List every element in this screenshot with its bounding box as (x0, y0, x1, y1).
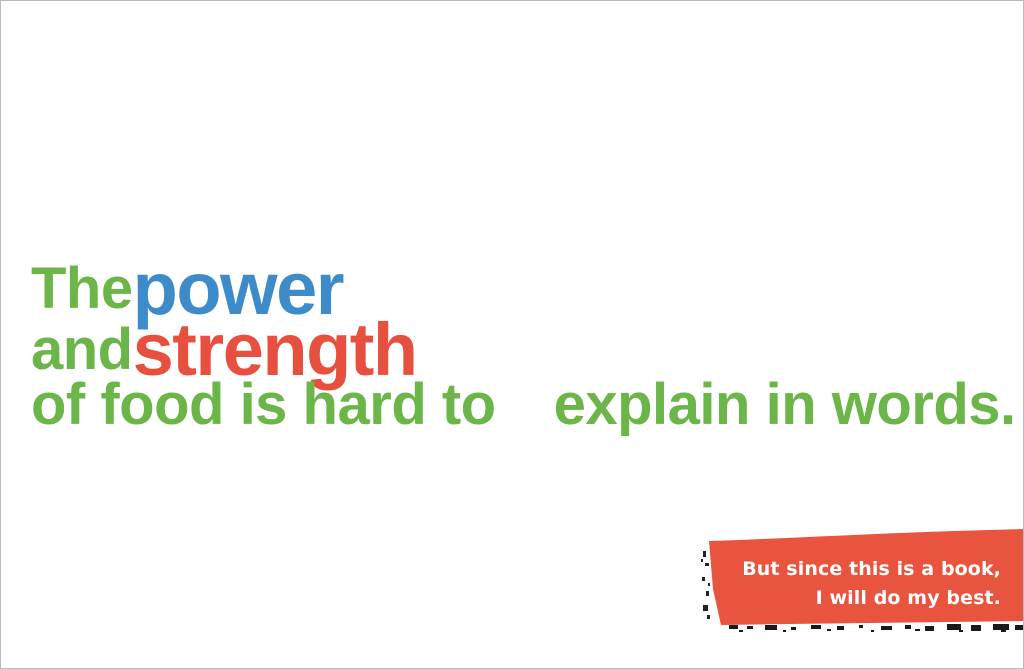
headline-phrase-explain-in-words: explain in words. (554, 372, 1016, 437)
poster-page: Thepower andstrength of food is hard toe… (0, 0, 1024, 669)
torn-edge-speckles-left (701, 551, 710, 619)
banner-callout: But since this is a book, I will do my b… (699, 529, 1024, 645)
headline-block: Thepower andstrength of food is hard toe… (31, 259, 1011, 430)
headline-phrase-of-food-is-hard-to: of food is hard to (31, 372, 496, 437)
banner-line-2: I will do my best. (711, 584, 1001, 613)
torn-edge-speckles-bottom (729, 624, 1024, 632)
banner-line-1: But since this is a book, (711, 555, 1001, 584)
headline-word-the: The (31, 256, 133, 321)
banner-text-block: But since this is a book, I will do my b… (711, 555, 1001, 613)
headline-line-2: andstrength (31, 320, 1011, 379)
headline-line-3: of food is hard toexplain in words. (31, 381, 1011, 430)
